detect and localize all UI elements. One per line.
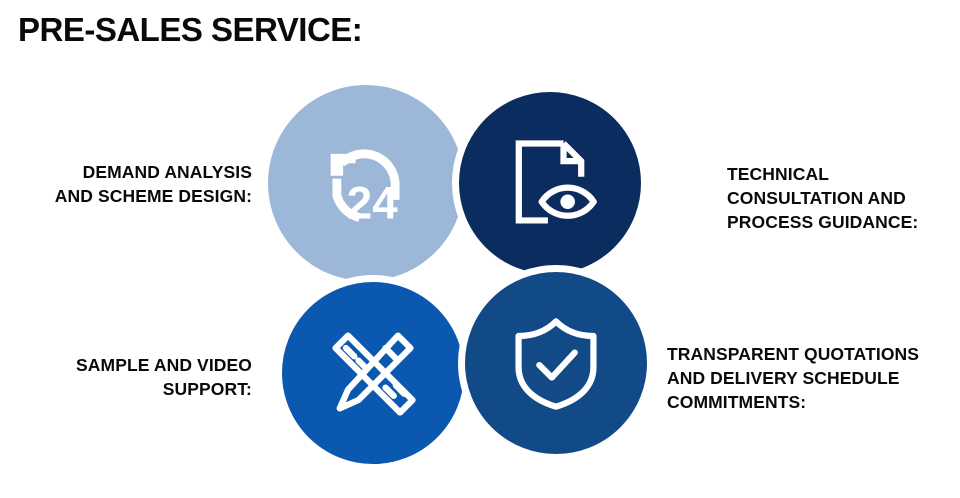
service-circle-cluster: 24 <box>268 85 668 478</box>
service-circle-demand-analysis[interactable]: 24 <box>268 85 464 281</box>
pencil-ruler-design-icon <box>321 321 425 425</box>
label-line: CONSULTATION AND <box>727 186 959 210</box>
label-demand-analysis: DEMAND ANALYSIS AND SCHEME DESIGN: <box>0 160 252 208</box>
label-transparent-quotations: TRANSPARENT QUOTATIONS AND DELIVERY SCHE… <box>667 342 959 414</box>
service-circle-technical-consultation[interactable] <box>452 85 648 281</box>
label-technical-consultation: TECHNICAL CONSULTATION AND PROCESS GUIDA… <box>727 162 959 234</box>
label-line: SAMPLE AND VIDEO <box>0 353 252 377</box>
label-line: COMMITMENTS: <box>667 390 959 414</box>
page-title: PRE-SALES SERVICE: <box>18 12 362 48</box>
service-circle-transparent-quotations[interactable] <box>458 265 654 461</box>
rotate-24-hours-icon-text: 24 <box>347 177 398 228</box>
shield-check-icon <box>504 311 608 415</box>
label-line: DEMAND ANALYSIS <box>0 160 252 184</box>
document-eye-review-icon <box>498 131 602 235</box>
label-line: TECHNICAL <box>727 162 959 186</box>
label-line: PROCESS GUIDANCE: <box>727 210 959 234</box>
label-line: AND SCHEME DESIGN: <box>0 184 252 208</box>
label-sample-video-support: SAMPLE AND VIDEO SUPPORT: <box>0 353 252 401</box>
service-circle-sample-video-support[interactable] <box>275 275 471 471</box>
label-line: TRANSPARENT QUOTATIONS <box>667 342 959 366</box>
label-line: SUPPORT: <box>0 377 252 401</box>
label-line: AND DELIVERY SCHEDULE <box>667 366 959 390</box>
rotate-24-hours-icon: 24 <box>314 131 418 235</box>
